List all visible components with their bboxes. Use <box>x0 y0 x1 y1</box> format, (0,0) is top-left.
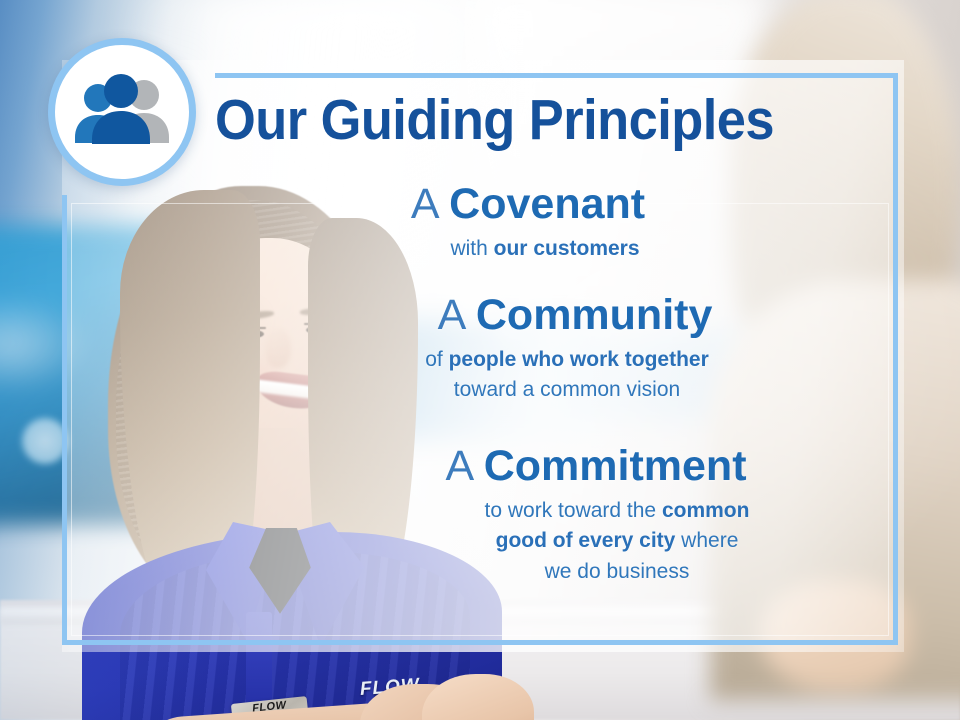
subtext-lead: with <box>450 237 493 260</box>
subtext-emphasis-2: good of every city <box>496 529 676 552</box>
subtext-line-2: toward a common vision <box>454 378 680 401</box>
subtext-emphasis: our customers <box>494 237 640 260</box>
principle-subtext: of people who work together toward a com… <box>259 345 875 406</box>
people-group-badge <box>48 38 196 186</box>
principles-list: A Covenant with our customers A Communit… <box>215 180 875 597</box>
guiding-principles-graphic: FLOW FLOW AUTOMOTIVE <box>0 0 960 720</box>
principle-keyword: Commitment <box>484 442 747 490</box>
principle-article: A <box>445 442 483 490</box>
principle-title: A Community <box>275 291 875 339</box>
people-group-icon <box>70 73 174 151</box>
principle-commitment: A Commitment to work toward the common g… <box>215 442 875 587</box>
principle-article: A <box>438 291 476 339</box>
subtext-line-3: we do business <box>545 560 690 583</box>
principle-article: A <box>411 180 449 228</box>
subtext-emphasis: common <box>662 499 750 522</box>
subtext-lead: to work toward the <box>485 499 662 522</box>
page-title: Our Guiding Principles <box>215 92 822 149</box>
principle-covenant: A Covenant with our customers <box>215 180 875 265</box>
principle-title: A Covenant <box>181 180 875 228</box>
principle-subtext: to work toward the common good of every … <box>359 496 875 587</box>
subtext-emphasis: people who work together <box>449 348 709 371</box>
subtext-lead: of <box>425 348 448 371</box>
principle-keyword: Covenant <box>449 180 645 228</box>
principle-title: A Commitment <box>317 442 875 490</box>
principle-subtext: with our customers <box>215 234 875 264</box>
subtext-tail: where <box>675 529 738 552</box>
principle-keyword: Community <box>476 291 713 339</box>
principle-community: A Community of people who work together … <box>215 291 875 406</box>
